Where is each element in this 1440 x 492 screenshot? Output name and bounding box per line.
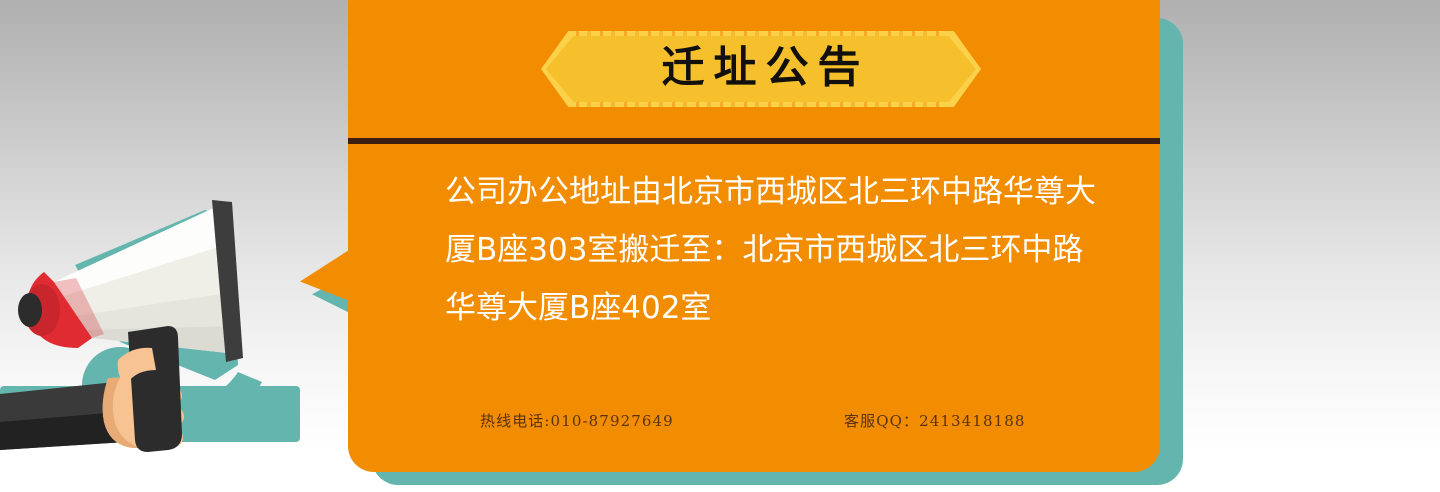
hotline-phone: 热线电话:010-87927649 (480, 410, 674, 431)
page-title: 迁址公告 (541, 31, 981, 107)
contact-footer: 热线电话:010-87927649 客服QQ：2413418188 (348, 398, 1160, 438)
megaphone-handle (128, 326, 182, 452)
announcement-card: 迁址公告 公司办公地址由北京市西城区北三环中路华尊大厦B座303室搬迁至：北京市… (348, 0, 1160, 472)
announcement-banner-image: 迁址公告 公司办公地址由北京市西城区北三环中路华尊大厦B座303室搬迁至：北京市… (0, 0, 1440, 492)
title-banner: 迁址公告 (541, 31, 981, 107)
header-divider (348, 138, 1160, 144)
megaphone-illustration (0, 150, 300, 492)
service-qq: 客服QQ：2413418188 (844, 410, 1026, 431)
announcement-body: 公司办公地址由北京市西城区北三环中路华尊大厦B座303室搬迁至：北京市西城区北三… (445, 163, 1105, 337)
